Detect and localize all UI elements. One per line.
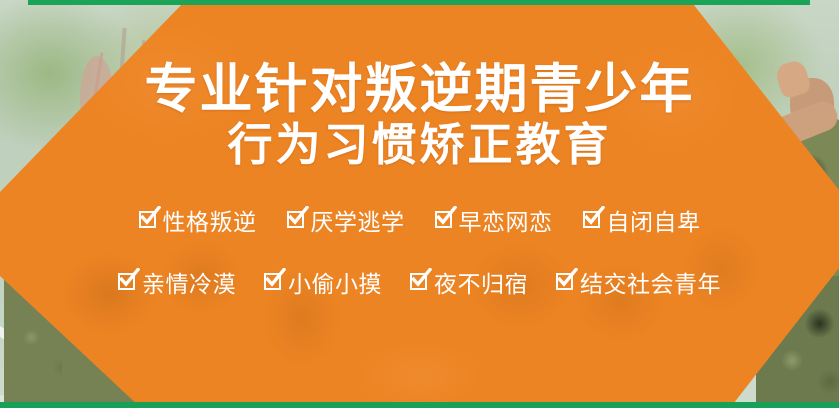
issue-tag-label: 结交社会青年 bbox=[580, 265, 721, 299]
issue-tag[interactable]: 小偷小摸 bbox=[264, 265, 382, 299]
headline-line-1: 专业针对叛逆期青少年 bbox=[145, 63, 695, 117]
checkbox-checked-icon[interactable] bbox=[556, 273, 573, 290]
issue-tag-label: 小偷小摸 bbox=[288, 265, 382, 299]
issue-tag[interactable]: 自闭自卑 bbox=[583, 203, 701, 237]
checkbox-checked-icon[interactable] bbox=[410, 273, 427, 290]
issue-tag[interactable]: 结交社会青年 bbox=[556, 265, 721, 299]
checkbox-checked-icon[interactable] bbox=[583, 211, 600, 228]
checkbox-checked-icon[interactable] bbox=[264, 273, 281, 290]
issue-tag-label: 自闭自卑 bbox=[607, 203, 701, 237]
checkbox-checked-icon[interactable] bbox=[435, 211, 452, 228]
checkbox-checked-icon[interactable] bbox=[287, 211, 304, 228]
issue-tag-label: 夜不归宿 bbox=[434, 265, 528, 299]
issue-tag-label: 早恋网恋 bbox=[459, 203, 553, 237]
issue-tag[interactable]: 早恋网恋 bbox=[435, 203, 553, 237]
issue-tag[interactable]: 性格叛逆 bbox=[139, 203, 257, 237]
checkbox-checked-icon[interactable] bbox=[118, 273, 135, 290]
issue-tag[interactable]: 夜不归宿 bbox=[410, 265, 528, 299]
headline-line-2: 行为习惯矫正教育 bbox=[227, 121, 611, 169]
issue-tag-row-2: 亲情冷漠 小偷小摸 夜不归宿 bbox=[118, 265, 721, 299]
checkbox-checked-icon[interactable] bbox=[139, 211, 156, 228]
issue-tag-row-1: 性格叛逆 厌学逃学 早恋网恋 bbox=[139, 203, 701, 237]
issue-tag-label: 亲情冷漠 bbox=[142, 265, 236, 299]
issue-tag[interactable]: 厌学逃学 bbox=[287, 203, 405, 237]
issue-tag-label: 性格叛逆 bbox=[163, 203, 257, 237]
issue-tag-label: 厌学逃学 bbox=[311, 203, 405, 237]
issue-tag[interactable]: 亲情冷漠 bbox=[118, 265, 236, 299]
promo-banner: 专业针对叛逆期青少年 行为习惯矫正教育 性格叛逆 厌学逃学 bbox=[0, 0, 839, 408]
banner-content: 专业针对叛逆期青少年 行为习惯矫正教育 性格叛逆 厌学逃学 bbox=[0, 0, 839, 408]
issue-tag-list: 性格叛逆 厌学逃学 早恋网恋 bbox=[0, 203, 839, 299]
